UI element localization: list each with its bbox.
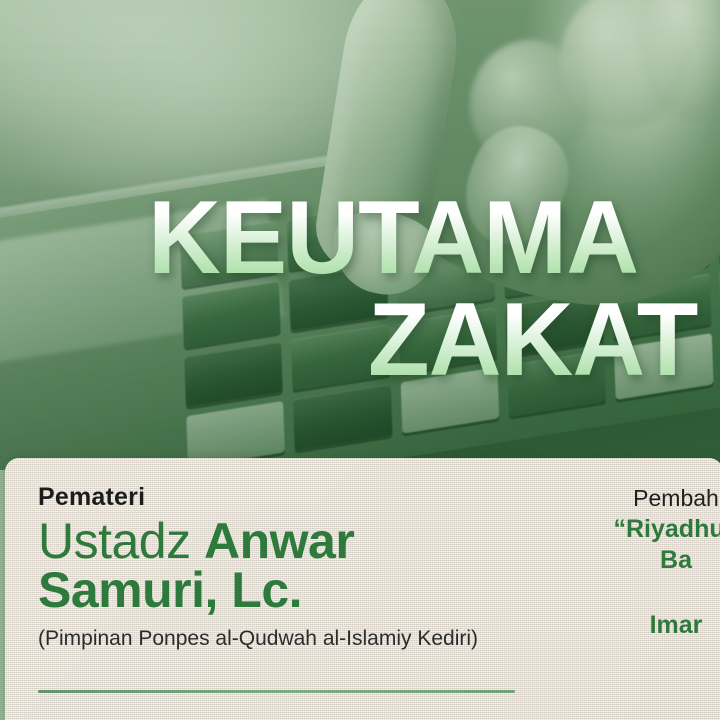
info-panel-content: Pemateri Ustadz Anwar Samuri, Lc. (Pimpi…	[5, 458, 720, 720]
panel-divider-rule	[38, 690, 515, 693]
speaker-name-first: Anwar	[204, 513, 354, 569]
speaker-block: Pemateri Ustadz Anwar Samuri, Lc. (Pimpi…	[38, 482, 558, 652]
green-duotone-overlay	[0, 0, 720, 470]
info-panel: Pemateri Ustadz Anwar Samuri, Lc. (Pimpi…	[5, 458, 720, 720]
speaker-affiliation: (Pimpinan Ponpes al-Qudwah al-Islamiy Ke…	[38, 626, 558, 652]
poster-root: KEUTAMA ZAKAT Pemateri Ustadz Anwar Samu…	[0, 0, 720, 720]
speaker-name-prefix: Ustadz	[38, 513, 204, 569]
speaker-name-second: Samuri, Lc.	[38, 566, 558, 615]
topic-kicker-label: Pembah	[511, 484, 720, 512]
topic-subtitle: Imar	[511, 610, 720, 641]
calculator-hand-photo	[0, 0, 720, 470]
topic-title-line-2: Ba	[660, 546, 692, 574]
speaker-kicker-label: Pemateri	[38, 482, 558, 512]
speaker-name: Ustadz Anwar Samuri, Lc.	[38, 517, 558, 615]
topic-title: “Riyadhus Ba	[511, 514, 720, 576]
topic-block: Pembah “Riyadhus Ba Imar	[511, 484, 720, 641]
topic-title-line-1: “Riyadhus	[613, 515, 720, 543]
